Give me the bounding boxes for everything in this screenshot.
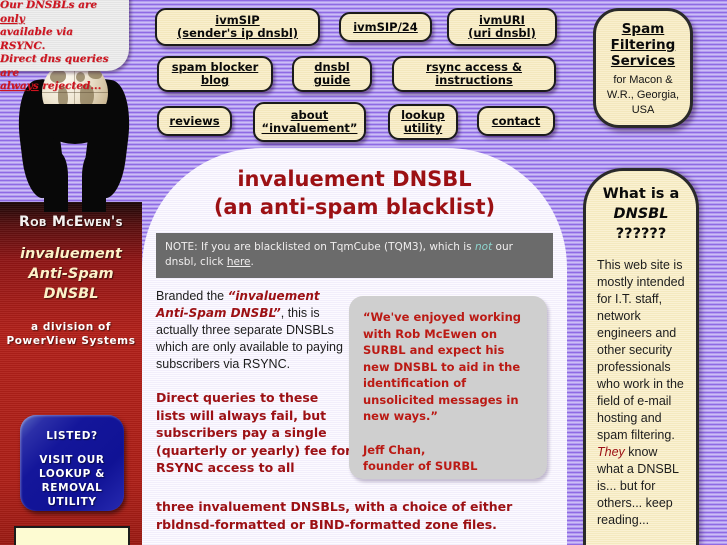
listed-button-line2: VISIT OUR (20, 453, 124, 467)
hand-palm-shape (44, 104, 106, 144)
nav-button-dnsbl-guide[interactable]: dnsbl guide (292, 56, 372, 92)
nav-button-spam-blocker-blog-line2: blog (201, 73, 229, 87)
sidebar-division-line1: a division of (0, 320, 142, 334)
what-is-dnsbl-p1-a: This web site is mostly intended for I.T… (597, 258, 685, 442)
what-is-dnsbl-heading-line3: ?????? (597, 224, 685, 244)
listed-button-line5: UTILITY (20, 495, 124, 509)
nav-button-ivmsip24-label: ivmSIP/24 (353, 20, 418, 34)
page-title-line1: invaluement DNSBL (142, 165, 567, 193)
nav-button-ivmuri[interactable]: ivmURI (uri dnsbl) (447, 8, 557, 46)
note-text-c: . (251, 256, 254, 268)
paragraph-branded: Branded the “invaluement Anti-Spam DNSBL… (156, 288, 352, 373)
left-sidebar: Rob McEwen's invaluement Anti-Spam DNSBL… (0, 202, 142, 545)
nav-button-ivmsip24[interactable]: ivmSIP/24 (339, 12, 432, 42)
nav-button-ivmuri-line2: (uri dnsbl) (468, 26, 536, 40)
note-text-a: NOTE: If you are blacklisted on TqmCube … (165, 241, 475, 253)
spam-services-subtext-line1: for Macon & (596, 73, 690, 88)
spam-services-heading-line2: Filtering (596, 37, 690, 53)
main-content-panel: invaluement DNSBL (an anti-spam blacklis… (142, 148, 567, 545)
sidebar-brand-line2: Anti-Spam (0, 264, 142, 284)
spam-services-heading-line1: Spam (596, 21, 690, 37)
page-title: invaluement DNSBL (an anti-spam blacklis… (142, 165, 567, 221)
wrist-right-shape (82, 152, 106, 212)
nav-button-lookup-utility[interactable]: lookup utility (388, 104, 458, 140)
nav-button-lookup-utility-line2: utility (404, 121, 443, 135)
bubble-line-4-underlined: always (0, 80, 39, 92)
paragraph-branded-a: Branded the (156, 289, 228, 303)
listed-lookup-removal-button[interactable]: LISTED? VISIT OUR LOOKUP & REMOVAL UTILI… (20, 415, 124, 511)
spam-services-subtext-line3: USA (596, 103, 690, 118)
bubble-line-1: Our DNSBLs are only (0, 0, 121, 26)
nav-button-ivmsip[interactable]: ivmSIP (sender's ip dnsbl) (155, 8, 320, 46)
nav-button-lookup-utility-line1: lookup (401, 108, 445, 122)
testimonial-quote: “We've enjoyed working with Rob McEwen o… (349, 296, 547, 479)
note-banner: NOTE: If you are blacklisted on TqmCube … (156, 233, 553, 278)
nav-button-dnsbl-guide-line1: dnsbl (314, 60, 349, 74)
spam-services-heading-line3: Services (596, 53, 690, 69)
paragraph-direct-queries: Direct queries to these lists will alway… (156, 389, 352, 477)
sidebar-division-line2: PowerView Systems (0, 334, 142, 348)
testimonial-text: “We've enjoyed working with Rob McEwen o… (363, 309, 533, 425)
paragraph-zone-files: three invaluement DNSBLs, with a choice … (156, 498, 556, 534)
what-is-dnsbl-heading-emphasis: DNSBL (614, 206, 669, 222)
spam-services-subtext: for Macon & W.R., Georgia, USA (596, 73, 690, 118)
listed-button-line1: LISTED? (20, 429, 124, 443)
listed-button-line3: LOOKUP & (20, 467, 124, 481)
nav-button-ivmuri-line1: ivmURI (479, 13, 525, 27)
nav-button-rsync-access-line2: instructions (435, 73, 513, 87)
nav-button-dnsbl-guide-line2: guide (314, 73, 350, 87)
what-is-dnsbl-heading-line1: What is a (597, 184, 685, 204)
nav-button-contact-label: contact (492, 114, 540, 128)
bubble-line-1-underlined: only (0, 13, 25, 25)
wrist-left-shape (44, 152, 68, 212)
sidebar-bottom-panel (14, 526, 130, 545)
rsync-notice-bubble: Our DNSBLs are only available via RSYNC.… (0, 0, 129, 71)
spam-filtering-services-box[interactable]: Spam Filtering Services for Macon & W.R.… (593, 8, 693, 128)
bubble-line-4: always rejected... (0, 80, 121, 94)
nav-button-contact[interactable]: contact (477, 106, 555, 136)
bubble-line-3: Direct dns queries are (0, 53, 121, 80)
sidebar-brand-line3: DNSBL (0, 284, 142, 304)
note-emphasis: not (475, 241, 492, 253)
nav-button-rsync-access[interactable]: rsync access & instructions (392, 56, 556, 92)
page-root: invaluement DNSBL (an anti-spam blacklis… (0, 0, 727, 545)
nav-button-about-line1: about (291, 108, 329, 122)
what-is-dnsbl-p1-emphasis: They (597, 445, 625, 459)
sidebar-owner-name: Rob McEwen's (0, 214, 142, 230)
listed-button-line4: REMOVAL (20, 481, 124, 495)
nav-button-about-line2: “invaluement” (262, 121, 358, 135)
what-is-dnsbl-paragraph-1: This web site is mostly intended for I.T… (597, 257, 685, 529)
spam-services-heading: Spam Filtering Services (596, 21, 690, 69)
bubble-line-4-b: rejected... (39, 80, 102, 92)
bubble-line-2: available via RSYNC. (0, 26, 121, 53)
sidebar-brand-line1: invaluement (0, 244, 142, 264)
nav-button-ivmsip-line1: ivmSIP (215, 13, 259, 27)
nav-button-spam-blocker-blog[interactable]: spam blocker blog (157, 56, 273, 92)
nav-button-about-invaluement[interactable]: about “invaluement” (253, 102, 366, 142)
what-is-dnsbl-heading: What is a DNSBL ?????? (597, 184, 685, 244)
spam-services-subtext-line2: W.R., Georgia, (596, 88, 690, 103)
bubble-line-1-a: Our DNSBLs are (0, 0, 97, 11)
nav-button-reviews-label: reviews (169, 114, 219, 128)
testimonial-author: Jeff Chan, (363, 442, 533, 459)
sidebar-brand: invaluement Anti-Spam DNSBL (0, 244, 142, 304)
nav-button-ivmsip-line2: (sender's ip dnsbl) (177, 26, 298, 40)
nav-button-reviews[interactable]: reviews (157, 106, 232, 136)
nav-button-rsync-access-line1: rsync access & (426, 60, 522, 74)
sidebar-division: a division of PowerView Systems (0, 320, 142, 348)
body-left-column: Branded the “invaluement Anti-Spam DNSBL… (156, 288, 352, 477)
page-title-line2: (an anti-spam blacklist) (142, 193, 567, 221)
nav-button-spam-blocker-blog-line1: spam blocker (172, 60, 259, 74)
testimonial-signature: Jeff Chan, founder of SURBL (363, 442, 533, 475)
what-is-dnsbl-box: What is a DNSBL ?????? This web site is … (583, 168, 699, 545)
testimonial-author-title: founder of SURBL (363, 458, 533, 475)
note-here-link[interactable]: here (227, 256, 251, 268)
